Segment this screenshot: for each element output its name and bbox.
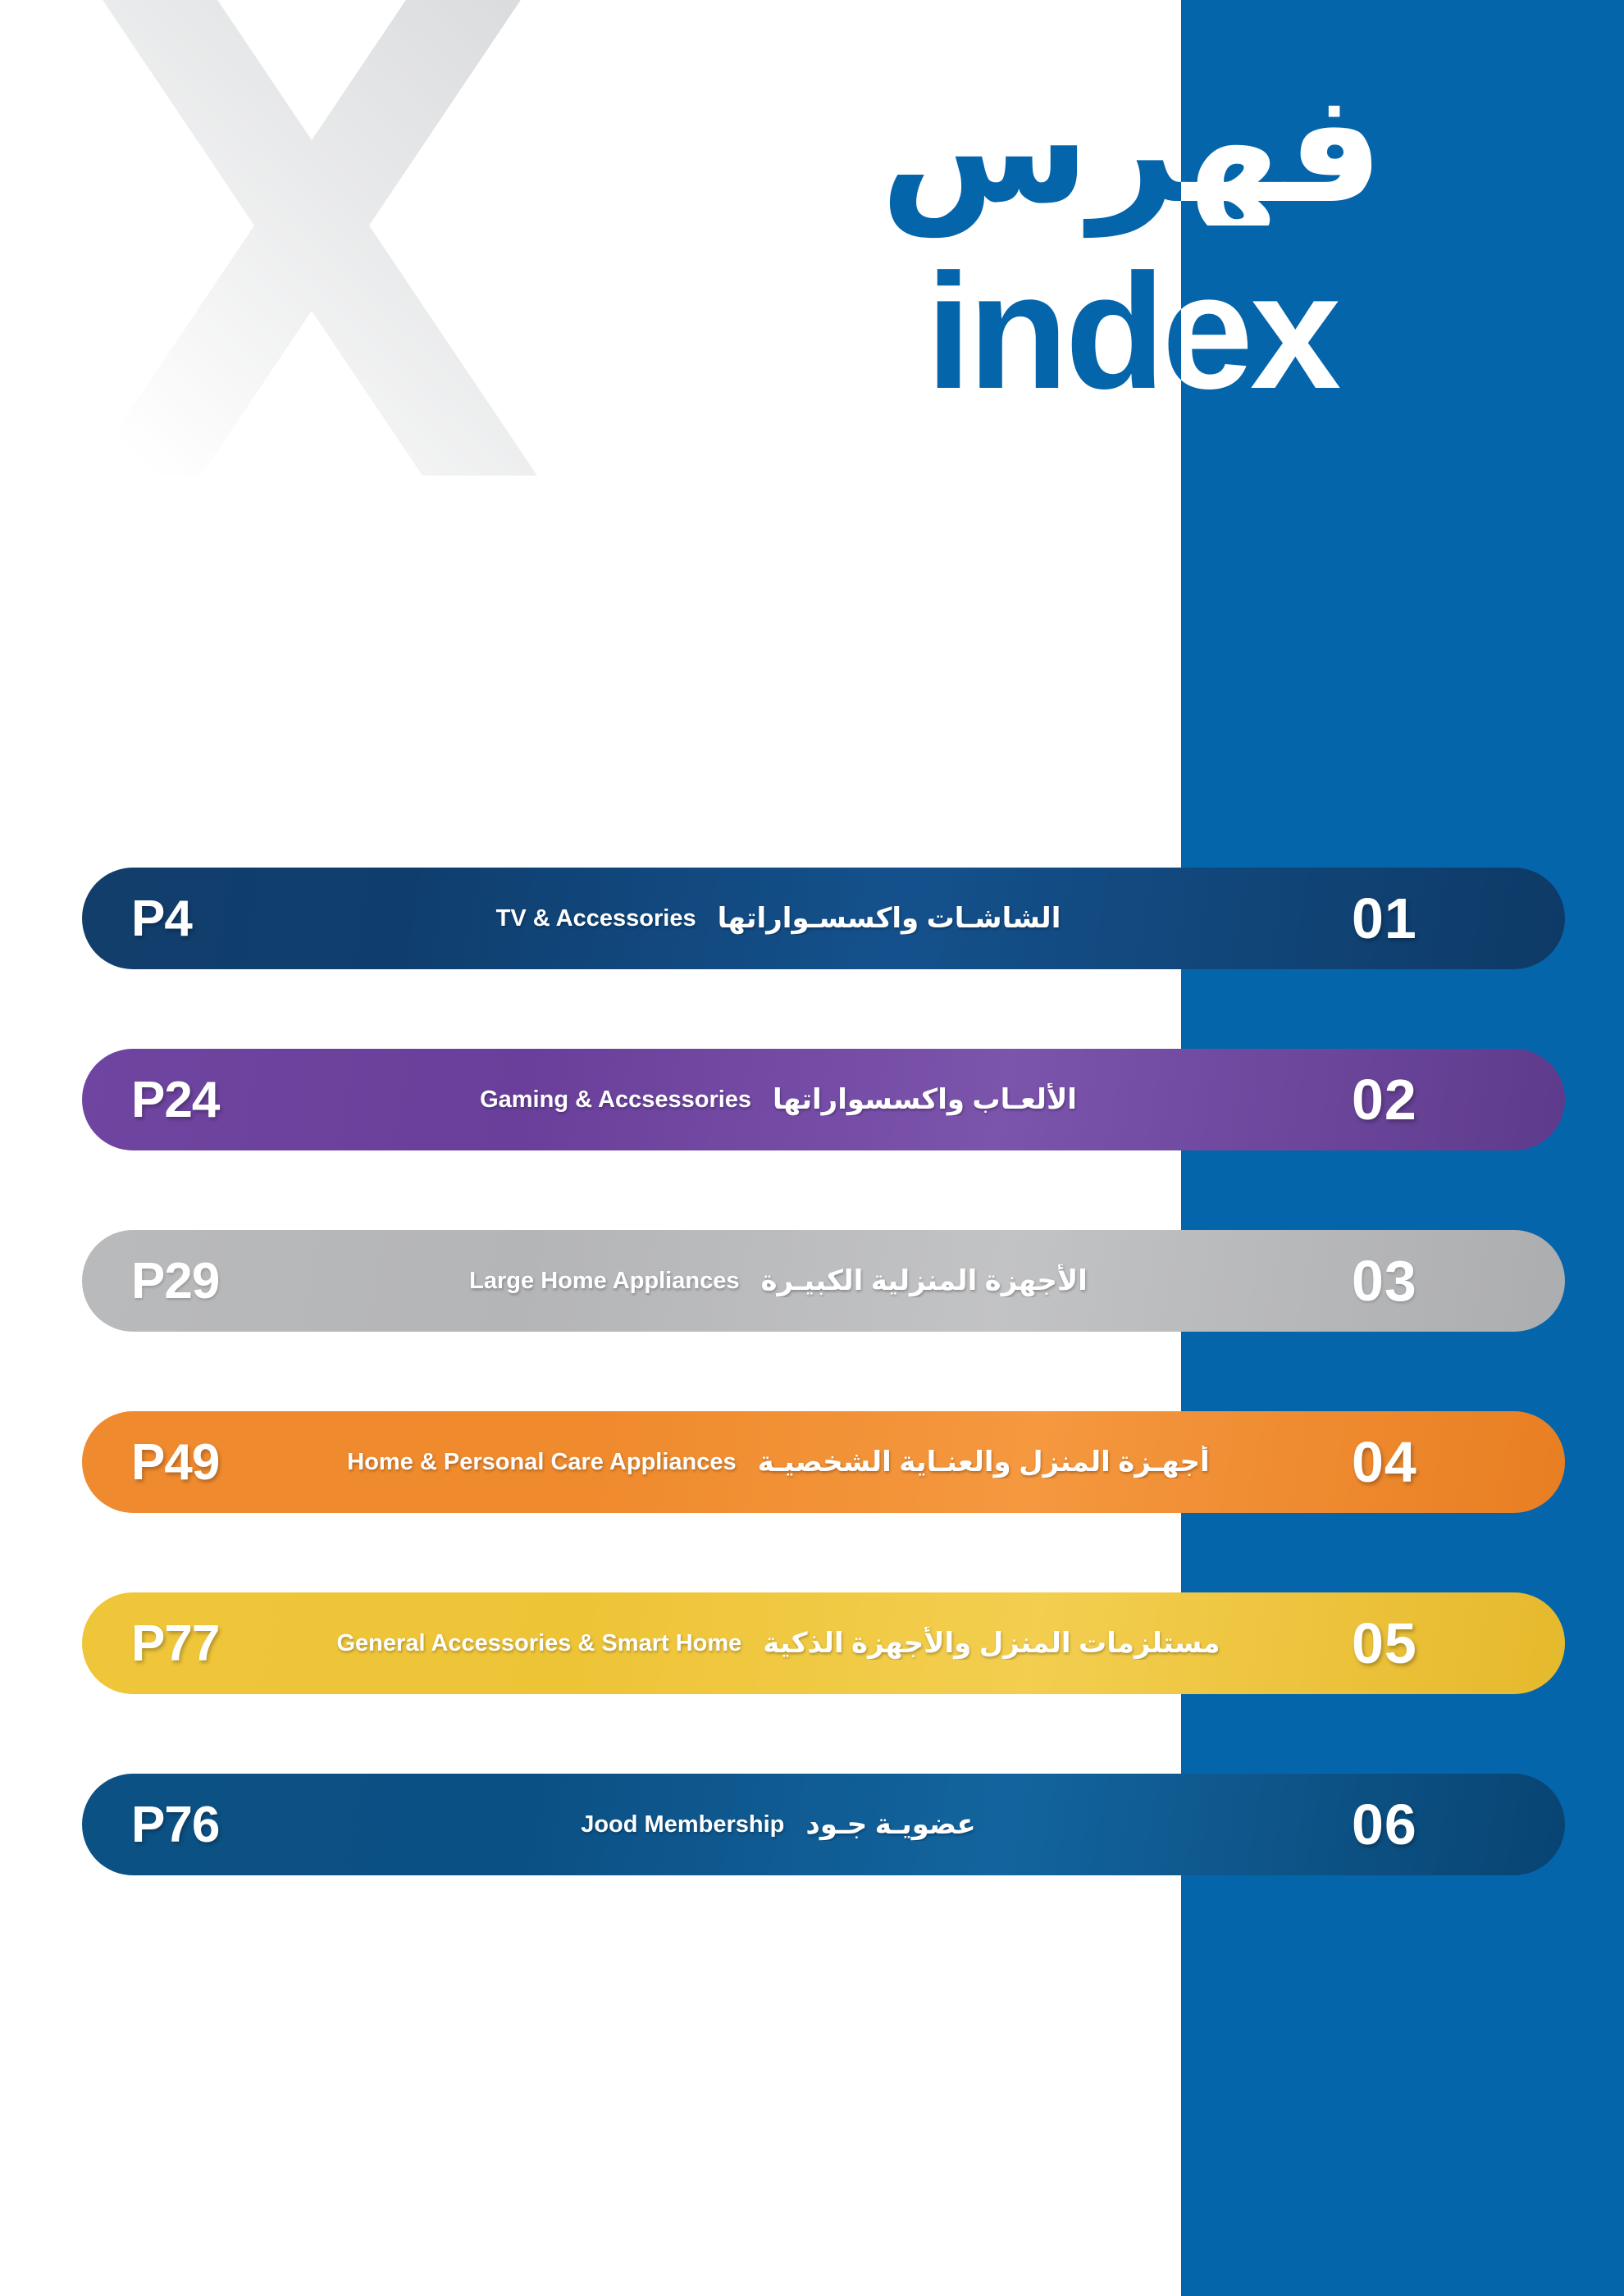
section-label-en: Large Home Appliances — [469, 1268, 739, 1295]
section-labels: Home & Personal Care Appliances أجهـزة ا… — [328, 1446, 1352, 1478]
index-row[interactable]: P49 Home & Personal Care Appliances أجهـ… — [0, 1411, 1624, 1513]
section-labels: Gaming & Accsessories الألعـاب واكسسوارا… — [328, 1083, 1352, 1116]
section-index-number: 02 — [1352, 1067, 1565, 1132]
index-row[interactable]: P77 General Accessories & Smart Home مست… — [0, 1592, 1624, 1694]
title-english: index index — [640, 250, 1624, 439]
index-bar-03[interactable]: P29 Large Home Appliances الأجهزة المنزل… — [82, 1230, 1565, 1332]
section-index-number: 01 — [1352, 886, 1565, 951]
section-label-ar: الألعـاب واكسسواراتها — [773, 1083, 1077, 1116]
page-number-tag: P49 — [82, 1433, 328, 1492]
section-label-ar: عضويـة جـود — [805, 1808, 975, 1841]
index-row[interactable]: P76 Jood Membership عضويـة جـود 06 — [0, 1774, 1624, 1875]
index-row[interactable]: P24 Gaming & Accsessories الألعـاب واكسس… — [0, 1049, 1624, 1150]
section-index-number: 06 — [1352, 1792, 1565, 1857]
index-page: فهرس فهرس index index P4 TV & Accessorie… — [0, 0, 1624, 2296]
page-title: فهرس فهرس index index — [640, 74, 1624, 533]
section-index-number: 04 — [1352, 1429, 1565, 1495]
section-label-ar: مستلزمات المنزل والأجهزة الذكية — [763, 1627, 1220, 1660]
section-labels: Jood Membership عضويـة جـود — [328, 1808, 1352, 1841]
index-bar-05[interactable]: P77 General Accessories & Smart Home مست… — [82, 1592, 1565, 1694]
section-labels: Large Home Appliances الأجهزة المنزلية ا… — [328, 1264, 1352, 1297]
page-number-tag: P76 — [82, 1796, 328, 1854]
section-label-en: Jood Membership — [581, 1811, 784, 1838]
page-number-tag: P4 — [82, 890, 328, 948]
section-index-number: 03 — [1352, 1248, 1565, 1314]
page-number-tag: P77 — [82, 1615, 328, 1673]
index-bar-04[interactable]: P49 Home & Personal Care Appliances أجهـ… — [82, 1411, 1565, 1513]
section-labels: TV & Accessories الشاشـات واكسسـواراتها — [328, 902, 1352, 935]
section-label-ar: أجهـزة المنزل والعنـاية الشخصيـة — [758, 1446, 1210, 1478]
section-index-number: 05 — [1352, 1610, 1565, 1676]
page-number-tag: P29 — [82, 1252, 328, 1310]
index-bar-06[interactable]: P76 Jood Membership عضويـة جـود 06 — [82, 1774, 1565, 1875]
index-bar-02[interactable]: P24 Gaming & Accsessories الألعـاب واكسس… — [82, 1049, 1565, 1150]
section-label-en: TV & Accessories — [496, 905, 696, 932]
section-label-en: Home & Personal Care Appliances — [347, 1449, 736, 1476]
index-row[interactable]: P29 Large Home Appliances الأجهزة المنزل… — [0, 1230, 1624, 1332]
section-label-ar: الشاشـات واكسسـواراتها — [718, 902, 1061, 935]
index-row-list: P4 TV & Accessories الشاشـات واكسسـوارات… — [0, 868, 1624, 1955]
section-label-en: General Accessories & Smart Home — [337, 1630, 742, 1657]
index-row[interactable]: P4 TV & Accessories الشاشـات واكسسـوارات… — [0, 868, 1624, 969]
title-arabic: فهرس فهرس — [640, 74, 1624, 271]
brand-x-watermark-icon — [78, 0, 537, 476]
section-labels: General Accessories & Smart Home مستلزما… — [328, 1627, 1352, 1660]
page-number-tag: P24 — [82, 1071, 328, 1129]
index-bar-01[interactable]: P4 TV & Accessories الشاشـات واكسسـوارات… — [82, 868, 1565, 969]
section-label-en: Gaming & Accsessories — [480, 1086, 751, 1114]
section-label-ar: الأجهزة المنزلية الكبيـرة — [760, 1264, 1087, 1297]
